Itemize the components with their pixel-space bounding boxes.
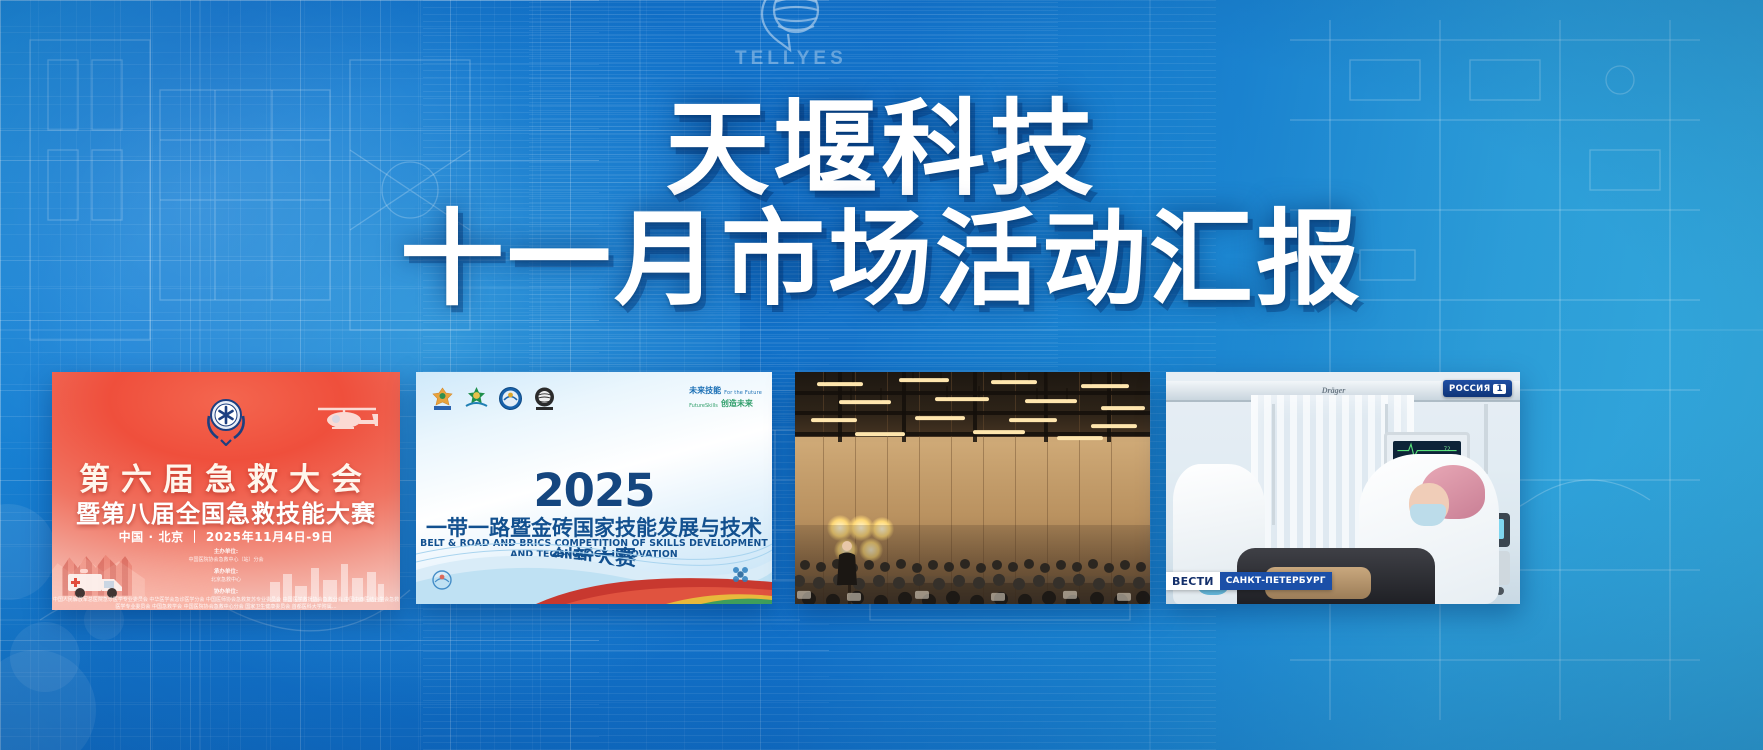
brics-games-logo-icon	[430, 386, 455, 411]
face-mask-icon	[1410, 504, 1446, 526]
poster-logo-row	[430, 386, 557, 411]
congress-title-main: 第六届急救大会	[52, 454, 400, 499]
star-emblem-logo-icon	[464, 386, 489, 411]
org-value-1: 中国医院协会急救中心（站）分会	[188, 557, 263, 563]
photo-belt-road-brics-poster: 未来技能 For the Future FutureSkills 创造未来 20…	[416, 372, 772, 604]
congress-title-sub: 暨第八届全国急救技能大赛	[52, 494, 400, 529]
org-value-2: 北京急救中心	[211, 577, 241, 583]
tellyes-logo-icon	[532, 386, 557, 411]
hall-photo	[795, 372, 1150, 604]
poster-wave-decor	[416, 530, 772, 604]
headline-line-2: 十一月市场活动汇报	[0, 206, 1763, 312]
lower-third-primary: ВЕСТИ	[1166, 572, 1220, 590]
poster-year: 2025	[416, 464, 772, 517]
tagline-cn-1: 未来技能	[689, 385, 721, 396]
brand-logo: TELLYES	[735, 0, 845, 82]
org-label-2: 承办单位:	[52, 568, 400, 577]
photo-conference-hall	[795, 372, 1150, 604]
ceiling-lights-icon	[795, 372, 1150, 446]
lower-third-banner: ВЕСТИ САНКТ-ПЕТЕРБУРГ	[1166, 572, 1332, 590]
congress-org-block-2: 承办单位: 北京急救中心	[52, 568, 400, 584]
congress-location-date: 中国 · 北京 ｜ 2025年11月4日-9日	[52, 528, 400, 545]
channel-badge: РОССИЯ 1	[1443, 380, 1512, 397]
photo-medical-simulation-broadcast: Dräger 72 98	[1166, 372, 1520, 604]
tagline-cn-2: 创造未来	[721, 398, 753, 409]
poster-tagline: 未来技能 For the Future FutureSkills 创造未来	[689, 385, 762, 409]
tagline-en-2: FutureSkills	[689, 403, 718, 409]
emergency-star-of-life-emblem	[199, 392, 253, 446]
org-label-1: 主办单位:	[52, 548, 400, 557]
tagline-en-1: For the Future	[724, 390, 762, 396]
congress-org-block-1: 主办单位: 中国医院协会急救中心（站）分会	[52, 548, 400, 564]
org-value-3: 中国人民解放军总医院急诊医学专业委员会 中华医学会急诊医学分会 中国医师协会急救…	[53, 597, 399, 610]
poster-corner-emblem-icon	[430, 568, 460, 594]
lower-third-secondary: САНКТ-ПЕТЕРБУРГ	[1220, 572, 1332, 590]
device-brand-label: Dräger	[1322, 386, 1346, 395]
poster-dot-cluster-icon	[728, 562, 754, 588]
congress-org-block-3: 协办单位: 中国人民解放军总医院急诊医学专业委员会 中华医学会急诊医学分会 中国…	[52, 588, 400, 610]
headline-line-1: 天堰科技	[0, 96, 1763, 202]
photo-strip: 第六届急救大会 暨第八届全国急救技能大赛 中国 · 北京 ｜ 2025年11月4…	[0, 372, 1763, 622]
page-title: 天堰科技 十一月市场活动汇报	[0, 96, 1763, 312]
marketing-banner: TELLYES 天堰科技 十一月市场活动汇报	[0, 0, 1763, 750]
photo-emergency-congress-backdrop: 第六届急救大会 暨第八届全国急救技能大赛 中国 · 北京 ｜ 2025年11月4…	[52, 372, 400, 610]
helicopter-icon	[314, 400, 380, 434]
org-label-3: 协办单位:	[52, 588, 400, 597]
channel-name: РОССИЯ	[1449, 384, 1490, 394]
channel-number: 1	[1493, 384, 1506, 394]
circular-blue-emblem-icon	[498, 386, 523, 411]
speaker-person-icon	[834, 539, 860, 585]
svg-text:72: 72	[1444, 447, 1451, 453]
hospital-room-photo: Dräger 72 98	[1166, 372, 1520, 604]
tellyes-globe-icon	[754, 0, 826, 54]
